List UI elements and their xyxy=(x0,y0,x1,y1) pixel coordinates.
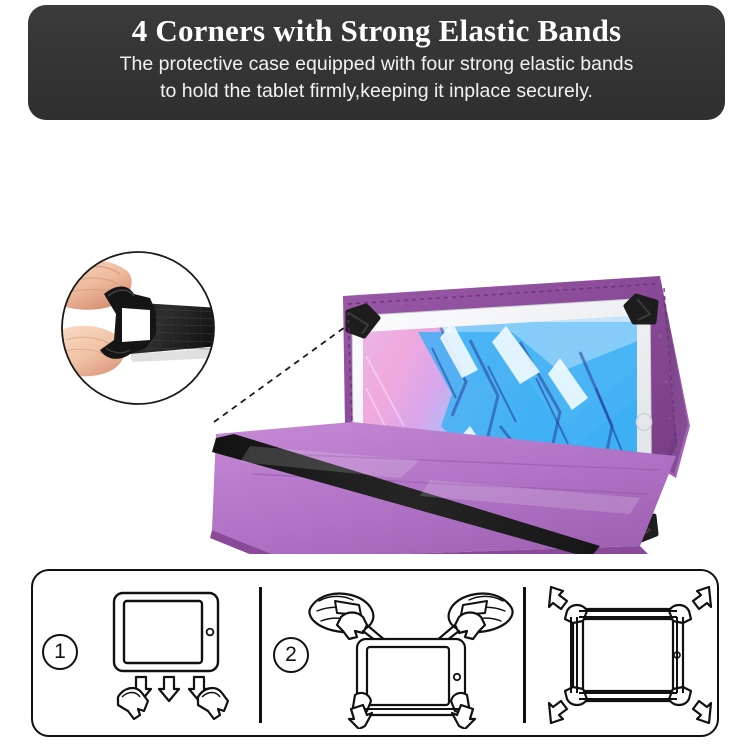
step-1-illustration xyxy=(88,585,258,725)
step-3-illustration xyxy=(545,581,715,729)
step-2-illustration xyxy=(305,581,517,729)
instruction-steps-panel: 1 xyxy=(31,569,719,737)
banner-title: 4 Corners with Strong Elastic Bands xyxy=(28,11,725,51)
step-number-2: 2 xyxy=(273,637,309,673)
zoom-callout-circle xyxy=(60,250,216,406)
header-banner: 4 Corners with Strong Elastic Bands The … xyxy=(28,5,725,120)
step-divider-2 xyxy=(523,587,526,723)
step-divider-1 xyxy=(259,587,262,723)
step-number-1: 1 xyxy=(42,634,78,670)
product-marketing-image: 4 Corners with Strong Elastic Bands The … xyxy=(0,0,750,750)
banner-subtitle-line-2: to hold the tablet firmly,keeping it inp… xyxy=(28,78,725,105)
callout-leader-line xyxy=(214,322,352,422)
elastic-corner-strap-top-right xyxy=(626,296,656,322)
banner-subtitle-line-1: The protective case equipped with four s… xyxy=(28,51,725,78)
